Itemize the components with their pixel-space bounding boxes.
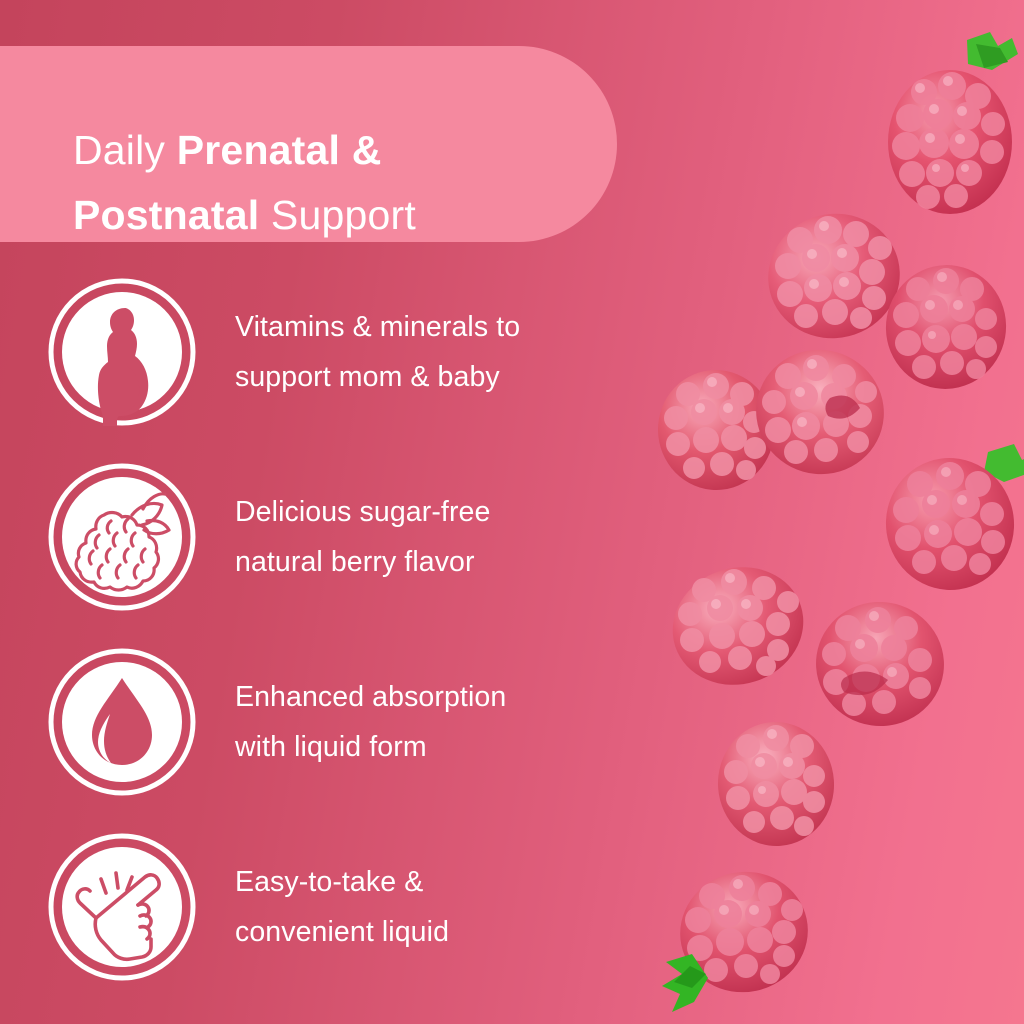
feature-label: Enhanced absorption with liquid form: [235, 672, 635, 772]
raspberry-decor: [872, 30, 1024, 220]
title-support: Support: [259, 192, 416, 238]
title-daily: Daily: [73, 127, 177, 173]
feature-item: Enhanced absorption with liquid form: [0, 648, 640, 833]
header-banner: Daily Prenatal & Postnatal Support: [0, 46, 617, 242]
snapping-hand-icon: [48, 833, 196, 981]
feature-label: Easy-to-take & convenient liquid: [235, 857, 635, 957]
raspberry-decor: [808, 592, 953, 732]
page-title: Daily Prenatal & Postnatal Support: [73, 118, 593, 248]
pregnant-woman-icon: [48, 278, 196, 426]
promo-canvas: Daily Prenatal & Postnatal Support Vitam…: [0, 0, 1024, 1024]
title-prenatal: Prenatal &: [177, 127, 382, 173]
raspberry-decor: [666, 558, 811, 693]
raspberry-decor: [880, 255, 1015, 395]
feature-item: Delicious sugar-free natural berry flavo…: [0, 463, 640, 648]
raspberry-icon: [48, 463, 196, 611]
feature-label: Delicious sugar-free natural berry flavo…: [235, 487, 635, 587]
feature-list: Vitamins & minerals to support mom & bab…: [0, 278, 640, 1018]
feature-label: Vitamins & minerals to support mom & bab…: [235, 302, 635, 402]
feature-item: Vitamins & minerals to support mom & bab…: [0, 278, 640, 463]
raspberry-decor: [880, 440, 1024, 595]
water-droplet-icon: [48, 648, 196, 796]
feature-item: Easy-to-take & convenient liquid: [0, 833, 640, 1018]
title-postnatal: Postnatal: [73, 192, 259, 238]
raspberry-decor: [712, 714, 842, 849]
raspberry-decor: [662, 862, 817, 1024]
raspberry-decor: [748, 340, 893, 480]
